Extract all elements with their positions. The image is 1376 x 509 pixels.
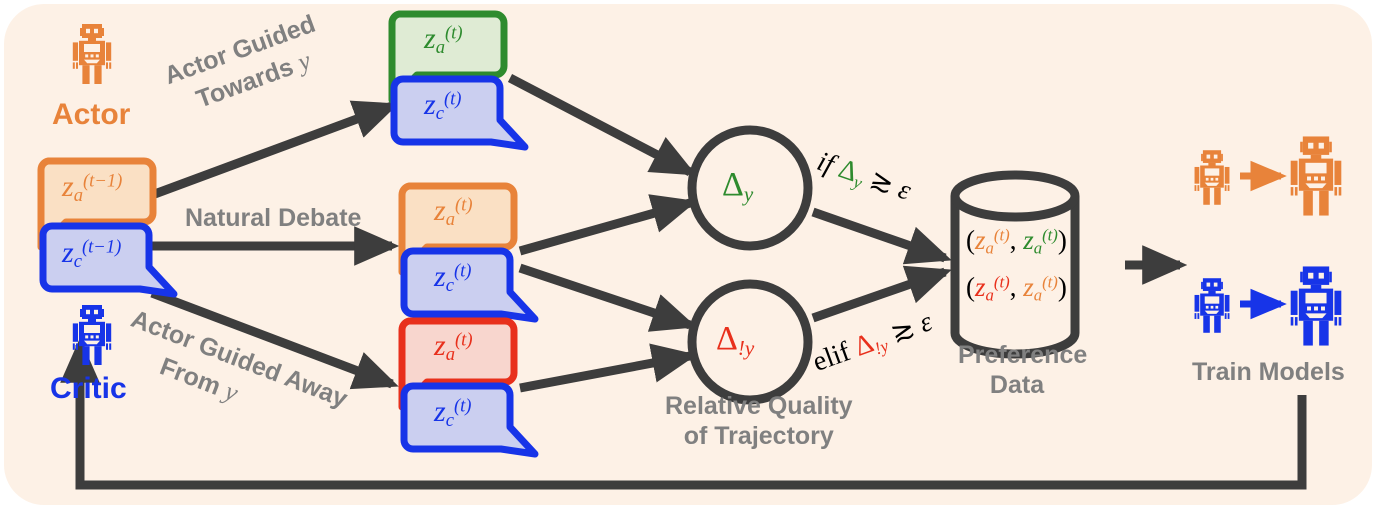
arrow-bot-to-delta-not-y xyxy=(520,356,690,388)
robot-icon xyxy=(1195,278,1230,333)
edge-label-middle: Natural Debate xyxy=(185,204,361,233)
quality-caption-line2: of Trajectory xyxy=(665,422,853,452)
database-cell-left: za(t) xyxy=(975,225,1010,255)
robot-icon xyxy=(1291,266,1342,345)
database-caption-line1: Preference xyxy=(958,341,1076,371)
robot-icon xyxy=(1195,150,1230,205)
superscript: (t) xyxy=(444,88,462,109)
subscript: a xyxy=(446,209,455,230)
paren-open: ( xyxy=(966,225,975,255)
database-caption-line2: Data xyxy=(958,371,1076,401)
condition-top-relation: ≳ xyxy=(866,164,898,201)
state-box-label-z-a-bot: za(t) xyxy=(434,329,473,366)
node-label-delta-not-y: Δ!y xyxy=(716,320,754,361)
subscript: c xyxy=(74,251,82,272)
subscript: c xyxy=(446,410,454,431)
condition-top-delta: Δy xyxy=(835,153,869,191)
superscript: (t) xyxy=(455,194,473,215)
var: z xyxy=(424,88,436,121)
critic-label: Critic xyxy=(50,372,127,406)
var: z xyxy=(62,170,74,203)
superscript: (t−1) xyxy=(82,236,121,257)
state-box-label-z-c-mid: zc(t) xyxy=(434,260,472,297)
superscript: (t) xyxy=(454,395,472,416)
paren-close: ) xyxy=(1058,272,1067,302)
delta-symbol: Δ xyxy=(716,320,738,357)
database-caption: Preference Data xyxy=(958,341,1076,400)
paren-open: ( xyxy=(966,272,975,302)
state-box-label-z-c-prev: zc(t−1) xyxy=(62,236,121,273)
delta-subscript: y xyxy=(744,182,753,206)
node-label-delta-y: Δy xyxy=(722,166,753,207)
database-row: (za(t), za(t)) xyxy=(966,225,1067,259)
subscript: a xyxy=(436,37,445,58)
delta-symbol: Δ xyxy=(722,166,744,203)
var: z xyxy=(434,260,446,293)
subscript: a xyxy=(446,344,455,365)
superscript: (t) xyxy=(445,22,463,43)
database-cylinder xyxy=(955,175,1075,354)
diagram-root: Actor Critic za(t−1) zc(t−1) za(t) zc(t)… xyxy=(0,0,1376,509)
arrow-mid-to-delta-y xyxy=(520,203,690,251)
var: z xyxy=(434,194,446,227)
train-models-caption: Train Models xyxy=(1192,358,1345,387)
quality-caption: Relative Quality of Trajectory xyxy=(665,392,853,451)
state-box-label-z-a-prev: za(t−1) xyxy=(62,170,122,207)
condition-bottom-relation: ≳ xyxy=(887,313,920,350)
var: z xyxy=(434,329,446,362)
arrow-top-to-delta-y xyxy=(510,78,690,172)
superscript: (t) xyxy=(455,329,473,350)
robot-icon xyxy=(73,24,111,84)
quality-caption-line1: Relative Quality xyxy=(665,392,853,422)
comma: , xyxy=(1010,272,1017,302)
actor-training-pair xyxy=(1195,136,1342,215)
database-cell-left: za(t) xyxy=(975,272,1010,302)
database-row: (za(t), za(t)) xyxy=(966,272,1067,306)
state-box-label-z-c-top: zc(t) xyxy=(424,88,462,125)
var: z xyxy=(434,395,446,428)
state-box-label-z-a-top: za(t) xyxy=(424,22,463,59)
robot-icon xyxy=(1291,136,1342,215)
subscript: a xyxy=(74,185,83,206)
var: z xyxy=(62,236,74,269)
superscript: (t) xyxy=(454,260,472,281)
var: z xyxy=(424,22,436,55)
state-box-label-z-c-bot: zc(t) xyxy=(434,395,472,432)
database-cell-right: za(t) xyxy=(1023,272,1058,302)
condition-bottom-delta: Δ!y xyxy=(850,323,890,363)
delta-subscript: !y xyxy=(738,336,754,360)
critic-training-pair xyxy=(1195,266,1342,345)
database-cell-right: za(t) xyxy=(1023,225,1058,255)
superscript: (t−1) xyxy=(83,170,122,191)
comma: , xyxy=(1010,225,1017,255)
edge-label-bottom-math: y xyxy=(221,376,242,407)
edge-label-top-math: y xyxy=(294,46,315,77)
state-box-label-z-a-mid: za(t) xyxy=(434,194,473,231)
arrow-delta-y-to-database xyxy=(813,212,945,258)
actor-label: Actor xyxy=(52,98,130,132)
arrow-mid-to-delta-not-y xyxy=(520,268,690,325)
subscript: c xyxy=(446,275,454,296)
subscript: c xyxy=(436,103,444,124)
paren-close: ) xyxy=(1058,225,1067,255)
